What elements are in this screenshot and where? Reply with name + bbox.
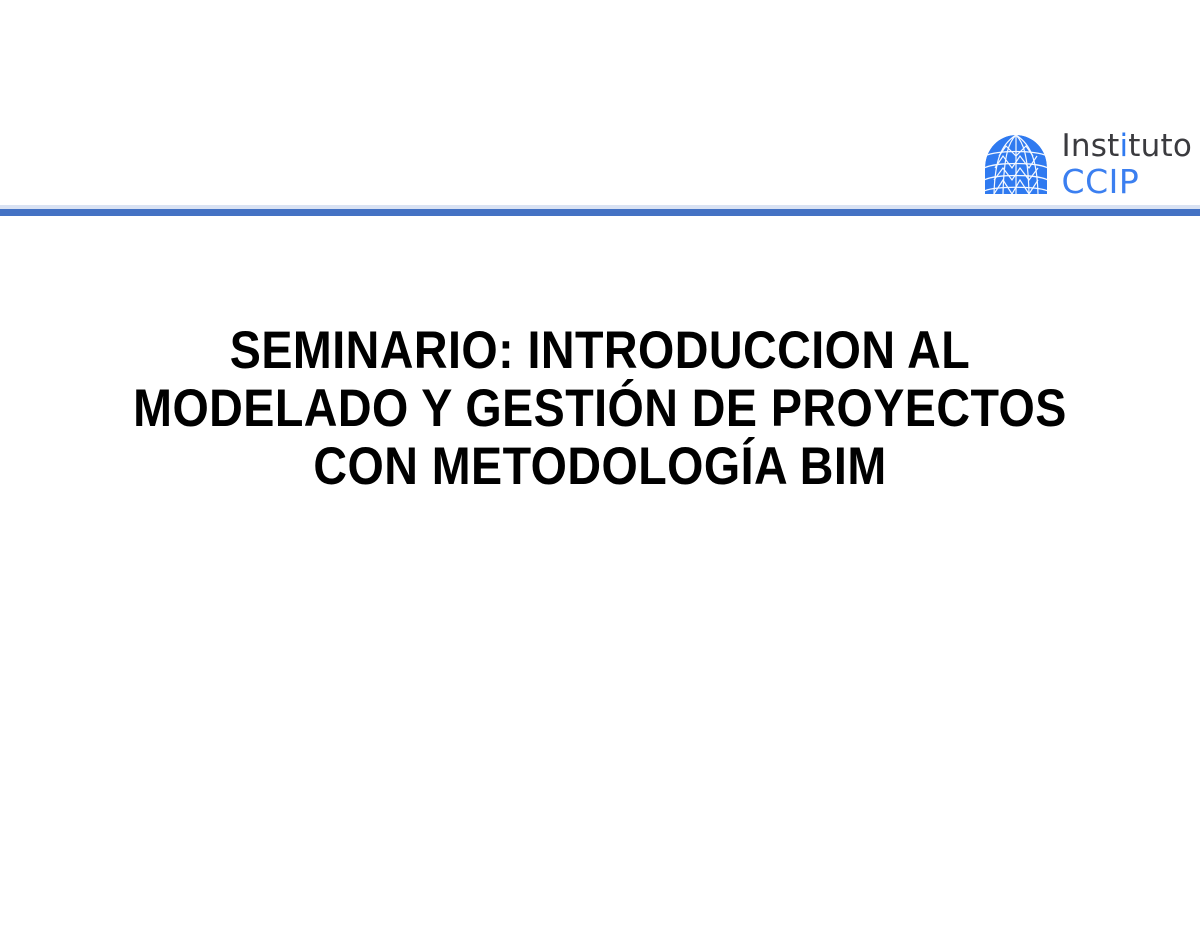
title-line-1: SEMINARIO: INTRODUCCION AL bbox=[93, 322, 1107, 380]
slide-body-content bbox=[0, 520, 1200, 927]
slide-header: Instituto CCIP bbox=[0, 0, 1200, 209]
logo-text-ccip: CCIP bbox=[1062, 165, 1192, 198]
logo-i-dot-accent: i bbox=[1119, 128, 1128, 164]
logo-wordmark: Instituto CCIP bbox=[1062, 131, 1192, 198]
title-line-2: MODELADO Y GESTIÓN DE PROYECTOS bbox=[93, 380, 1107, 438]
header-divider-rule bbox=[0, 209, 1200, 216]
slide-title: SEMINARIO: INTRODUCCION AL MODELADO Y GE… bbox=[0, 322, 1200, 496]
presentation-slide: Instituto CCIP SEMINARIO: INTRODUCCION A… bbox=[0, 0, 1200, 927]
institute-logo: Instituto CCIP bbox=[982, 131, 1192, 198]
title-line-3: CON METODOLOGÍA BIM bbox=[93, 438, 1107, 496]
logo-text-instituto: Instituto bbox=[1062, 131, 1192, 162]
geodesic-dome-logo-icon bbox=[982, 134, 1050, 196]
